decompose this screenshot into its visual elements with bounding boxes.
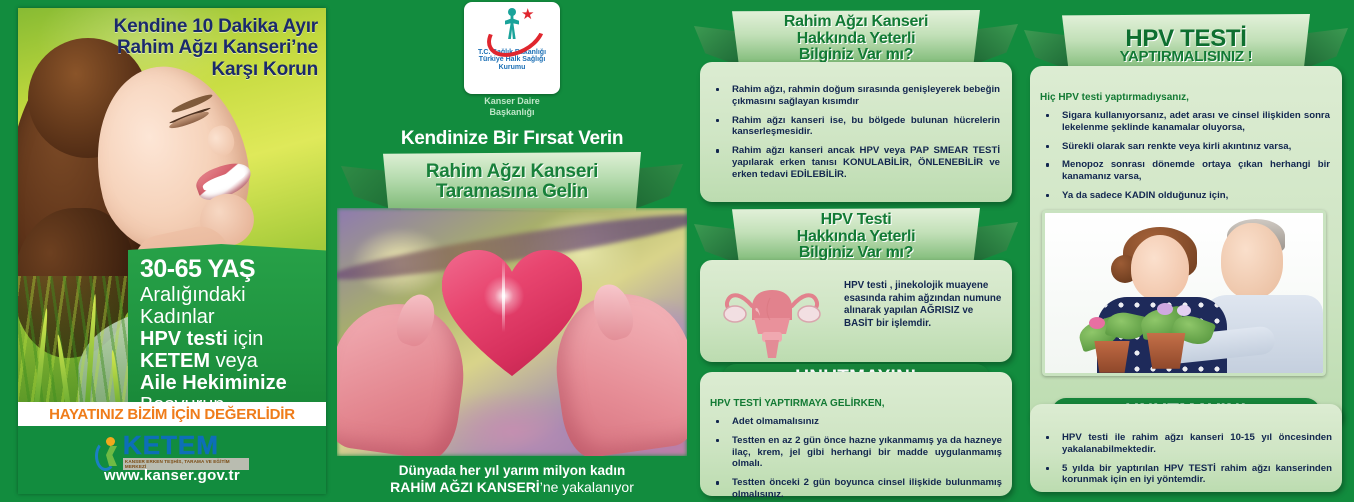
ribbon-subtitle: YAPTIRMALISINIZ ! xyxy=(1120,49,1253,65)
callout-line4: HPV testi için xyxy=(140,328,326,350)
panel1-heading-line3: Karşı Korun xyxy=(28,59,318,80)
panel-invitation: ★ T.C. Sağlık Bakanlığı Türkiye Halk Sağ… xyxy=(337,0,687,502)
panel2-footer: Dünyada her yıl yarım milyon kadın RAHİM… xyxy=(337,456,687,502)
panel2-kicker: Kendinize Bir Fırsat Verin xyxy=(337,128,687,150)
crescent-star-figure-icon: ★ xyxy=(481,8,543,48)
list-item: Ya da sadece KADIN olduğunuz için, xyxy=(1038,190,1330,202)
ribbon-title: HPV TESTİ xyxy=(1125,26,1246,51)
panel2-footer-line2: RAHİM AĞZI KANSERİ’ne yakalanıyor xyxy=(390,479,634,495)
hpv-description-text: HPV testi , jinekolojik muayene esasında… xyxy=(844,278,1002,331)
callout-line5: KETEM veya xyxy=(140,350,326,372)
hpv-benefits-card: HPV testi ile rahim ağzı kanseri 10-15 y… xyxy=(1030,404,1342,492)
ribbon1-line1: Rahim Ağzı Kanseri xyxy=(784,14,928,31)
hpv-preparation-card: HPV TESTİ YAPTIRMAYA GELİRKEN, Adet olma… xyxy=(700,372,1012,496)
preparation-bullet-list: Adet olmamalısınız Testten en az 2 gün ö… xyxy=(708,416,1002,501)
risk-bullet-list: Sigara kullanıyorsanız, adet arası ve ci… xyxy=(1038,110,1330,202)
ribbon-line2: Taramasına Gelin xyxy=(436,182,588,202)
cervical-info-card: Rahim ağzı, rahmin doğum sırasında geniş… xyxy=(700,62,1012,202)
ribbon-band: Rahim Ağzı Kanseri Taramasına Gelin xyxy=(383,152,641,212)
department-label: Kanser Daire Başkanlığı xyxy=(337,96,687,118)
ketem-figure-icon xyxy=(95,437,120,467)
uterus-diagram-icon xyxy=(708,278,836,362)
list-item: Sigara kullanıyorsanız, adet arası ve ci… xyxy=(1038,110,1330,134)
benefits-bullet-list: HPV testi ile rahim ağzı kanseri 10-15 y… xyxy=(1038,432,1332,486)
panel-cervical-cancer-info: Rahim Ağzı Kanseri Hakkında Yeterli Bilg… xyxy=(694,0,1018,502)
list-item: HPV testi ile rahim ağzı kanseri 10-15 y… xyxy=(1038,432,1332,456)
teeth-shape xyxy=(201,168,246,193)
callout-age-range: 30-65 YAŞ xyxy=(140,256,326,284)
list-item: Adet olmamalısınız xyxy=(708,416,1002,428)
elderly-couple-photo xyxy=(1042,210,1326,376)
panel1-heading-line2: Rahim Ağzı Kanseri’ne xyxy=(28,37,318,58)
ribbon-line1: Rahim Ağzı Kanseri xyxy=(426,162,598,182)
ministry-of-health-logo: ★ T.C. Sağlık Bakanlığı Türkiye Halk Sağ… xyxy=(464,2,560,94)
ketem-logo: KETEM KANSER ERKEN TEŞHİS, TARAMA VE EĞİ… xyxy=(95,434,249,470)
ketem-wordmark: KETEM xyxy=(123,434,249,458)
hpv-info-card: HPV testi , jinekolojik muayene esasında… xyxy=(700,260,1012,362)
website-url[interactable]: www.kanser.gov.tr xyxy=(18,467,326,484)
ministry-line2: Türkiye Halk Sağlığı xyxy=(479,56,546,64)
list-item: Rahim ağzı, rahmin doğum sırasında geniş… xyxy=(708,84,1000,108)
panel1-footer: KETEM KANSER ERKEN TEŞHİS, TARAMA VE EĞİ… xyxy=(18,426,326,494)
list-item: Testten en az 2 gün önce hazne yıkanmamı… xyxy=(708,435,1002,470)
heart-sparkle xyxy=(482,274,526,318)
panel-hpv-test-call: HPV TESTİ YAPTIRMALISINIZ ! Hiç HPV test… xyxy=(1024,0,1348,502)
ribbon2-line1: HPV Testi xyxy=(821,212,892,229)
callout-line6: Aile Hekiminize xyxy=(140,372,326,394)
woman-head-shape xyxy=(1131,235,1189,301)
list-item: Rahim ağzı kanseri ise, bu bölgede bulun… xyxy=(708,115,1000,139)
callout-line3: Kadınlar xyxy=(140,306,326,328)
cervical-bullet-list: Rahim ağzı, rahmin doğum sırasında geniş… xyxy=(708,84,1000,181)
risk-factors-card: Hiç HPV testi yaptırmadıysanız, Sigara k… xyxy=(1030,66,1342,426)
panel2-footer-line1: Dünyada her yıl yarım milyon kadın xyxy=(399,463,626,478)
list-item: 5 yılda bir yaptırılan HPV TESTİ rahim a… xyxy=(1038,463,1332,487)
star-icon: ★ xyxy=(521,7,534,22)
list-item: Rahim ağzı kanseri ancak HPV veya PAP SM… xyxy=(708,145,1000,180)
ribbon2-line2: Hakkında Yeterli xyxy=(797,229,916,246)
list-item: Testten önceki 2 gün boyunca cinsel iliş… xyxy=(708,477,1002,501)
risk-intro: Hiç HPV testi yaptırmadıysanız, xyxy=(1040,92,1330,103)
callout-line2: Aralığındaki xyxy=(140,284,326,306)
brochure-canvas: Kendine 10 Dakika Ayır Rahim Ağzı Kanser… xyxy=(0,0,1354,502)
man-head-shape xyxy=(1221,223,1283,299)
hands-holding-heart-photo xyxy=(337,208,687,456)
value-strip-text: HAYATINIZ BİZİM İÇİN DEĞERLİDİR xyxy=(49,406,295,423)
ministry-line3: Kurumu xyxy=(499,64,526,72)
panel2-ribbon: Rahim Ağzı Kanseri Taramasına Gelin xyxy=(341,152,683,214)
panel-awareness: Kendine 10 Dakika Ayır Rahim Ağzı Kanser… xyxy=(18,8,326,494)
panel1-heading-line1: Kendine 10 Dakika Ayır xyxy=(28,16,318,37)
value-strip: HAYATINIZ BİZİM İÇİN DEĞERLİDİR xyxy=(18,402,326,426)
list-item: Menopoz sonrası dönemde ortaya çıkan her… xyxy=(1038,159,1330,183)
list-item: Sürekli olarak sarı renkte veya kirli ak… xyxy=(1038,141,1330,153)
panel1-heading: Kendine 10 Dakika Ayır Rahim Ağzı Kanser… xyxy=(28,16,318,80)
preparation-intro: HPV TESTİ YAPTIRMAYA GELİRKEN, xyxy=(710,398,1002,409)
ribbon1-line2: Hakkında Yeterli xyxy=(797,31,916,48)
